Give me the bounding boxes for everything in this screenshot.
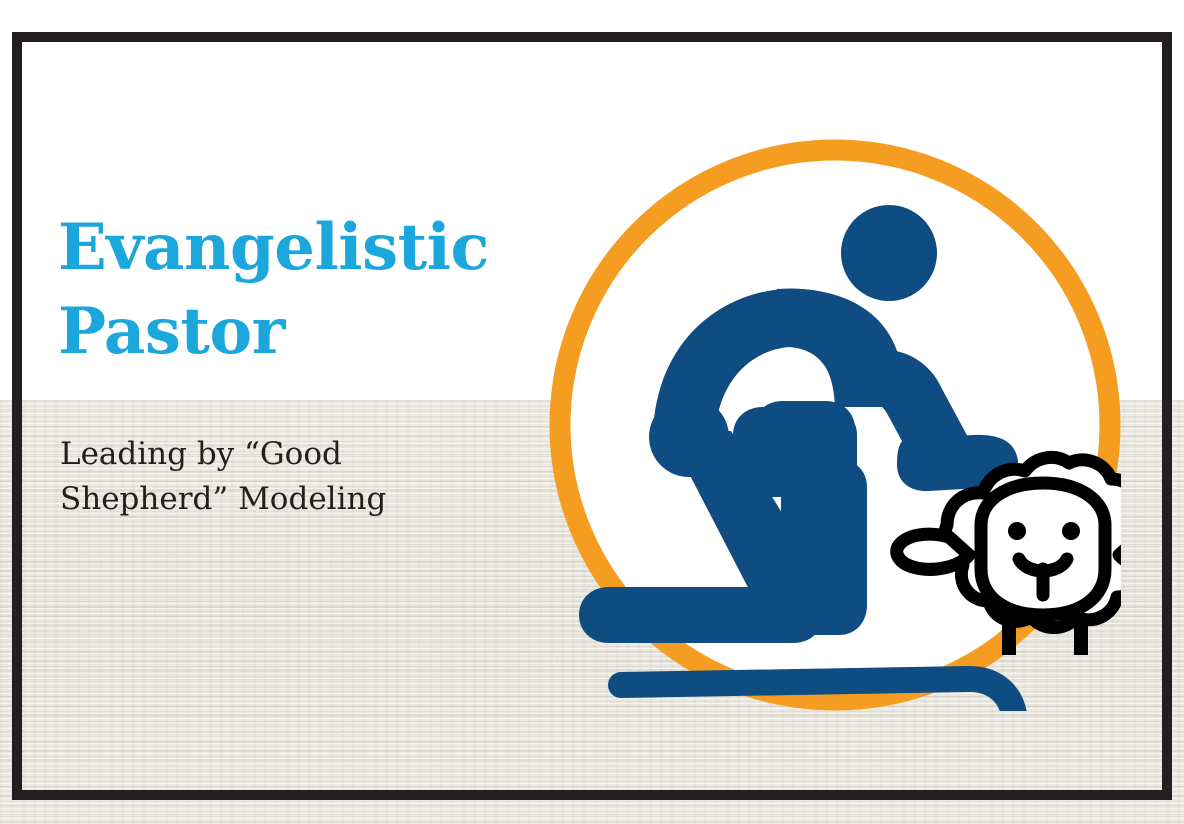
- slide-canvas: Evangelistic Pastor Leading by “Good She…: [0, 0, 1184, 824]
- shepherd-logo-svg: [549, 139, 1121, 711]
- slide-subtitle: Leading by “Good Shepherd” Modeling: [60, 432, 490, 522]
- slide-title: Evangelistic Pastor: [58, 206, 578, 374]
- shepherd-logo: [549, 139, 1121, 711]
